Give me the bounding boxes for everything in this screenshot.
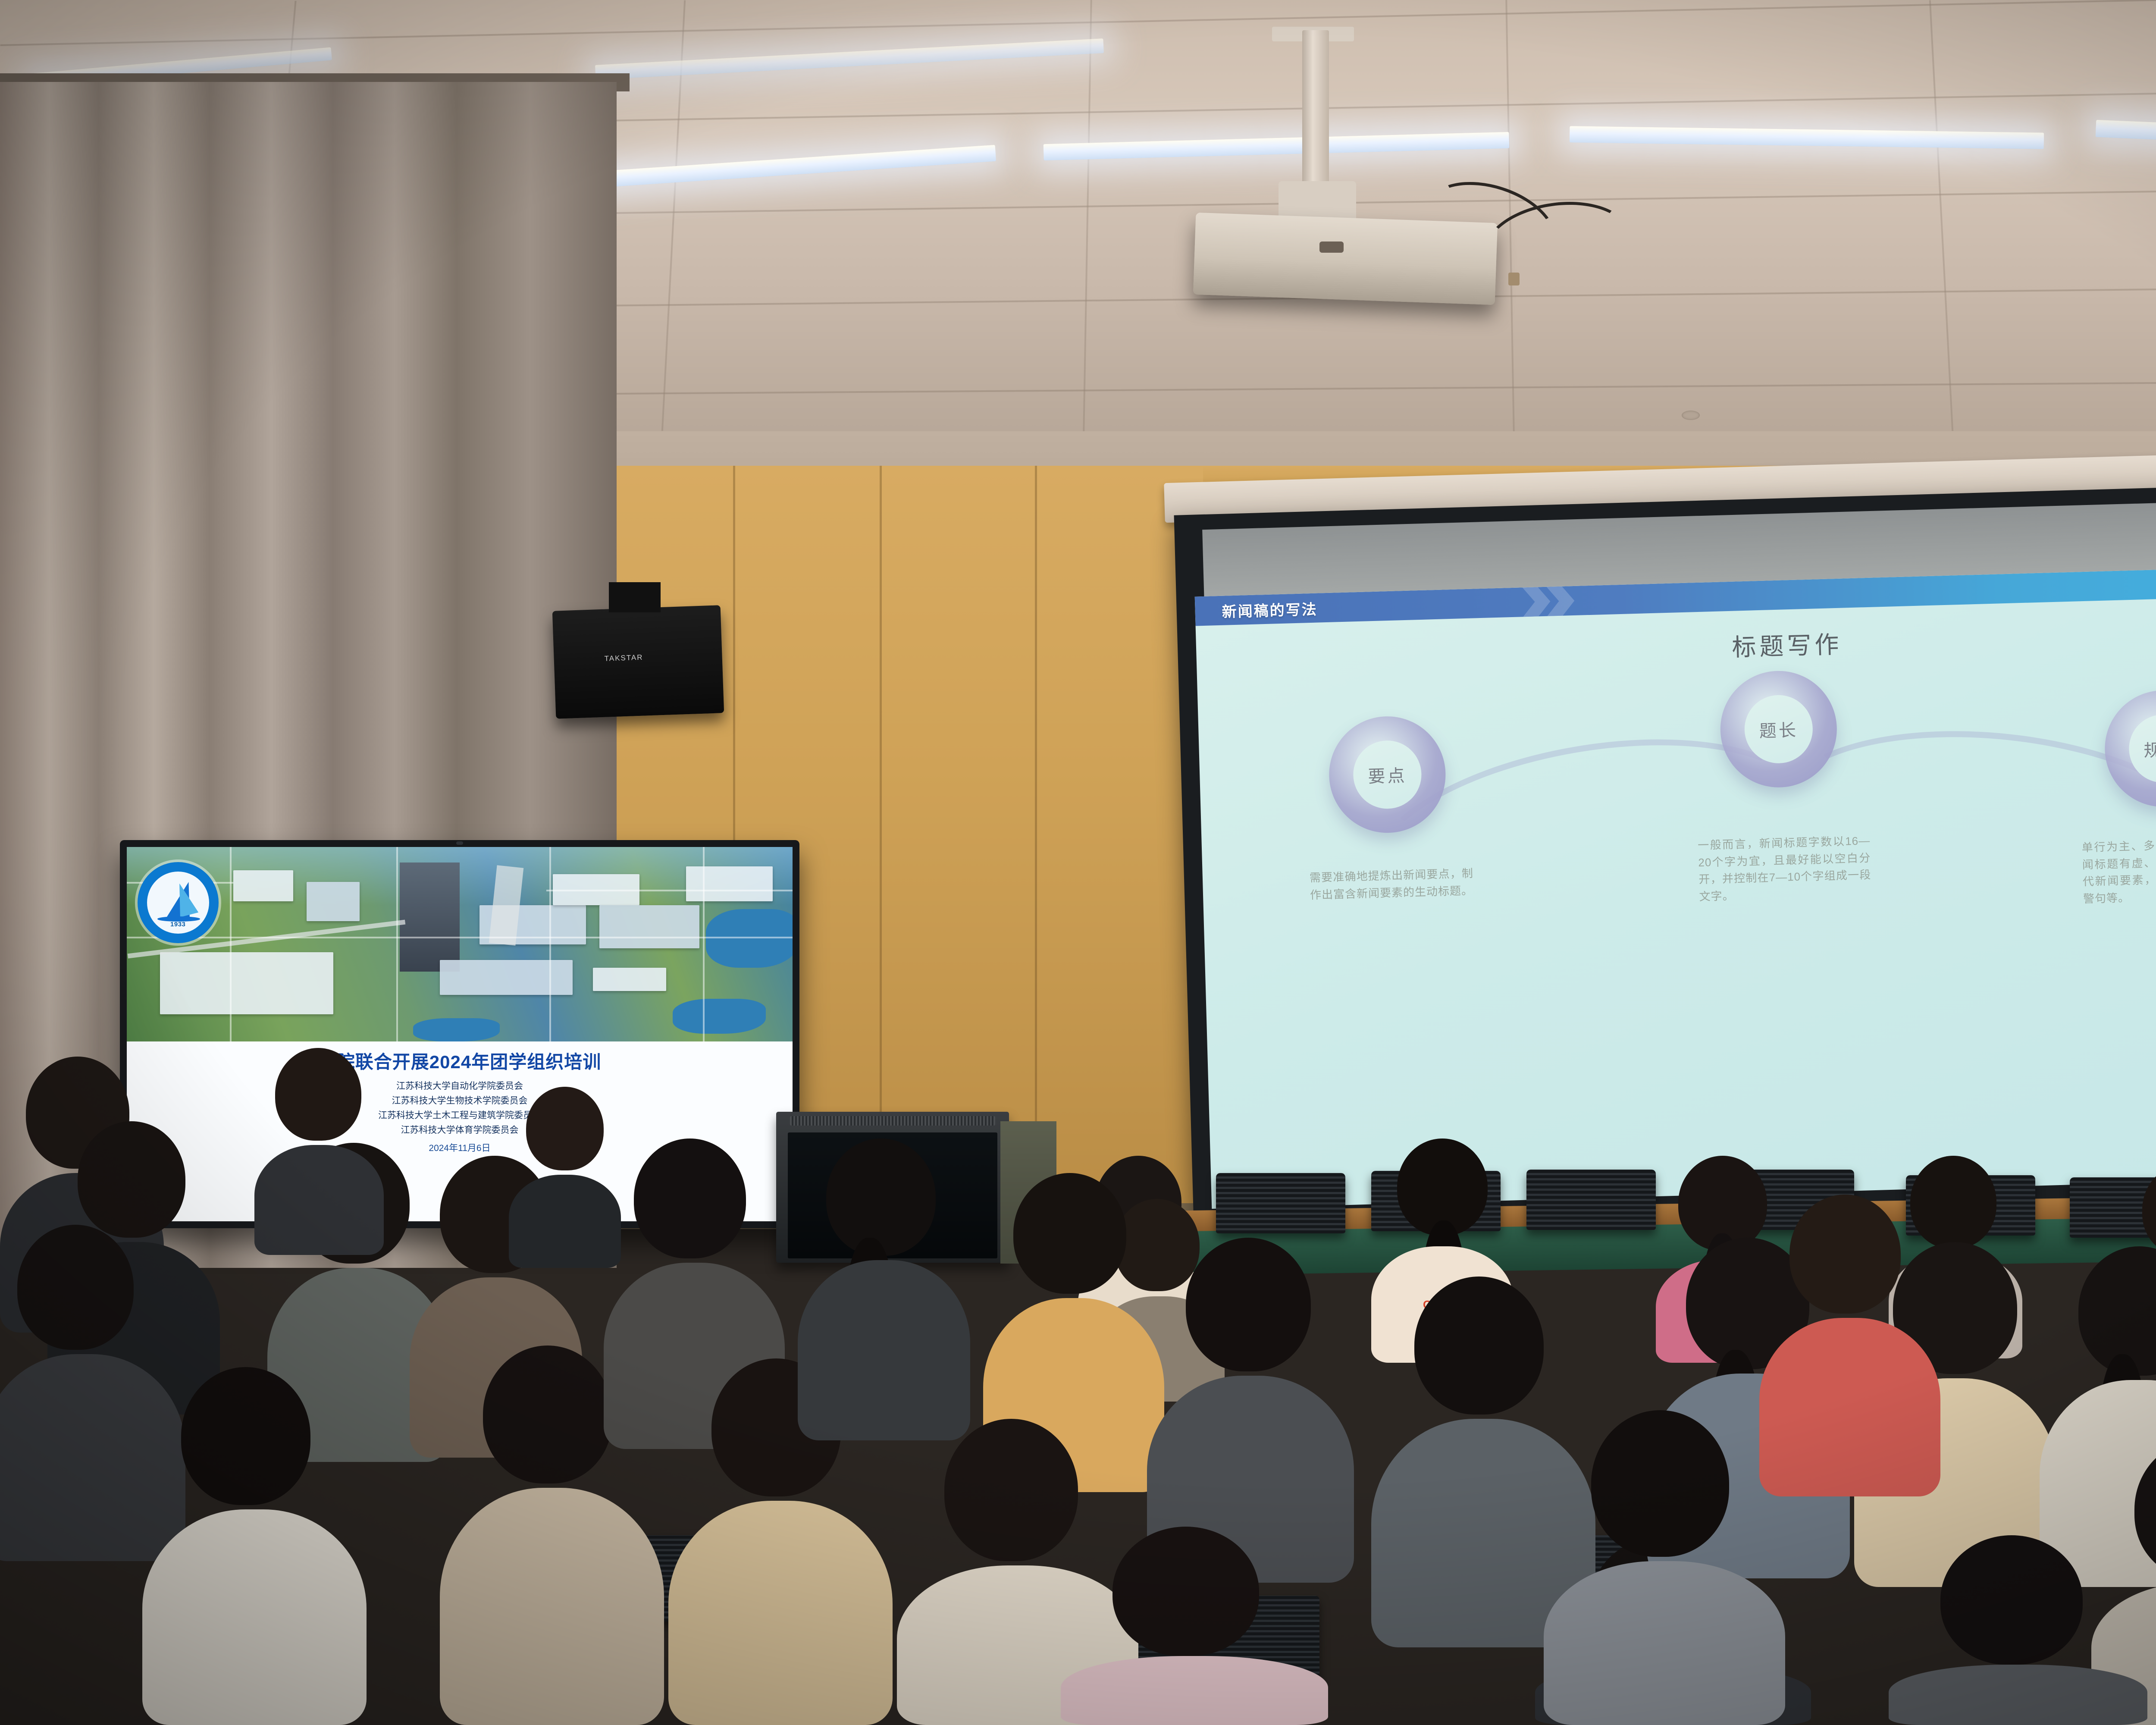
topic-ring-label: 题长 bbox=[1759, 716, 1799, 742]
wall-speaker: TAKSTAR bbox=[552, 605, 724, 718]
wall-speaker-brand-label: TAKSTAR bbox=[604, 653, 643, 663]
projected-slide: 新闻稿的写法 TXS 标题写作 要点 题长 规范 需要准 bbox=[1195, 564, 2156, 1209]
rack-vent-icon bbox=[790, 1116, 995, 1126]
audience-member bbox=[142, 1367, 367, 1725]
tv-organization: 江苏科技大学生物技术学院委员会 bbox=[392, 1094, 528, 1107]
projector-lens bbox=[1319, 241, 1344, 253]
university-logo: 1933 bbox=[138, 862, 219, 943]
wood-panel-seam bbox=[880, 466, 882, 1225]
audience-member bbox=[1061, 1527, 1328, 1725]
audience-member bbox=[1889, 1535, 2147, 1725]
chevron-right-icon bbox=[1522, 587, 1551, 617]
audience-member bbox=[1759, 1195, 1940, 1496]
wood-panel-seam bbox=[1035, 466, 1037, 1225]
tv-organization: 江苏科技大学体育学院委员会 bbox=[401, 1123, 519, 1136]
fire-sprinkler bbox=[1508, 273, 1520, 285]
topic-ring-label: 要点 bbox=[1368, 762, 1407, 787]
lecture-hall-scene: TAKSTAR bbox=[0, 0, 2156, 1725]
topic-body-3: 单行为主、多用实题；报纸的新闻标题有虚、实之分，实题要交代新闻要素，虚题可以是议… bbox=[2081, 834, 2156, 907]
lecture-chair[interactable] bbox=[1526, 1170, 1656, 1230]
tv-organization: 江苏科技大学自动化学院委员会 bbox=[396, 1079, 523, 1092]
tv-camera-icon bbox=[456, 841, 463, 845]
topic-ring-label: 规范 bbox=[2143, 736, 2156, 762]
audience-member bbox=[254, 1048, 384, 1255]
audience-member bbox=[1544, 1410, 1785, 1725]
lecture-chair[interactable] bbox=[1216, 1173, 1345, 1233]
audience-member bbox=[509, 1087, 621, 1268]
topic-body-2: 一般而言，新闻标题字数以16—20个字为宜，且最好能以空白分开，并控制在7—10… bbox=[1698, 832, 1872, 905]
projector-drop-pole bbox=[1302, 30, 1329, 185]
slide-header-title: 新闻稿的写法 bbox=[1222, 597, 1318, 621]
audience-member bbox=[798, 1138, 970, 1440]
speaker-bracket bbox=[609, 582, 661, 612]
logo-year: 1933 bbox=[141, 921, 215, 928]
topic-body-1: 需要准确地提炼出新闻要点，制作出富含新闻要素的生动标题。 bbox=[1309, 865, 1474, 904]
ceiling-smoke-detector bbox=[1682, 411, 1700, 420]
campus-photo bbox=[127, 847, 793, 1041]
chevron-right-icon bbox=[1546, 586, 1575, 616]
